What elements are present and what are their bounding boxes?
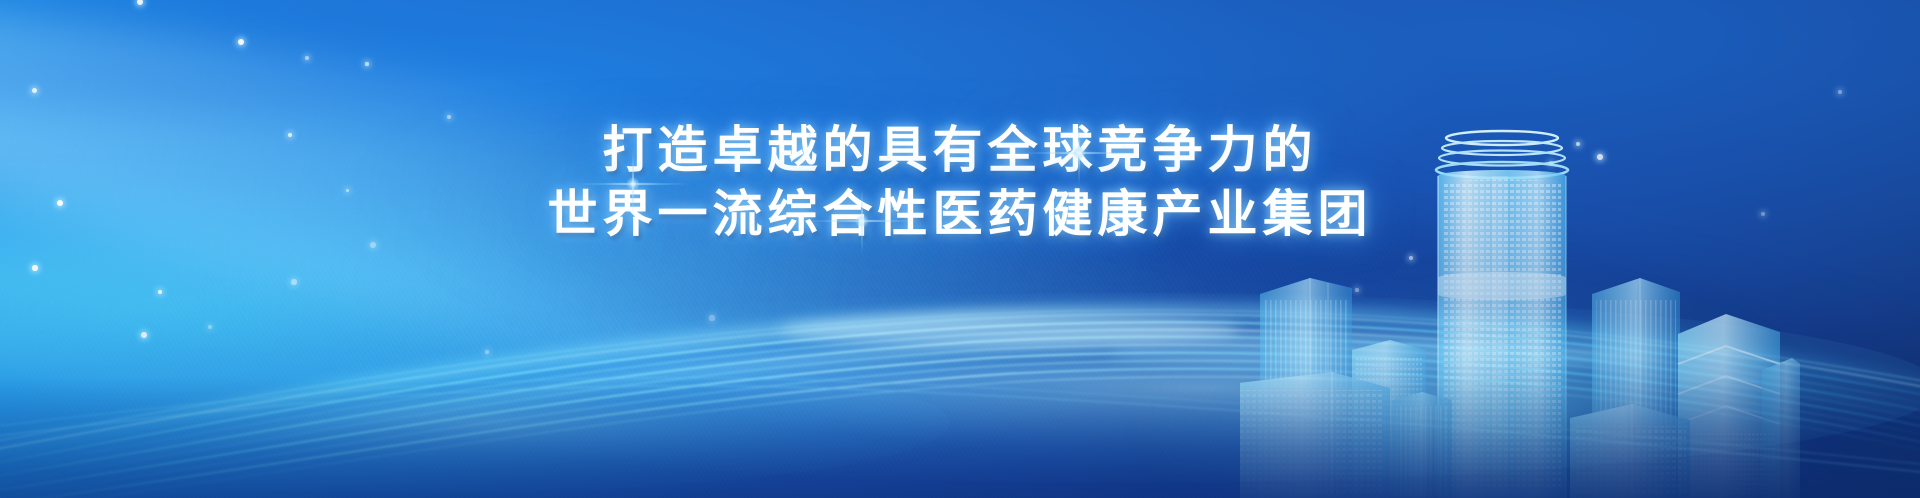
bokeh-dot bbox=[485, 350, 489, 354]
bokeh-dot bbox=[288, 133, 292, 137]
building-far-right bbox=[1762, 358, 1800, 498]
building-central-tower bbox=[1436, 131, 1568, 498]
building-ribbed-small bbox=[1392, 392, 1452, 498]
building-front-right bbox=[1570, 404, 1690, 498]
bokeh-dot bbox=[57, 200, 63, 206]
bokeh-dot bbox=[1838, 90, 1842, 94]
bokeh-dot bbox=[291, 279, 296, 284]
bokeh-dot bbox=[370, 242, 377, 249]
building-block-left bbox=[1240, 372, 1390, 498]
bokeh-dot bbox=[346, 189, 349, 192]
bokeh-dot bbox=[365, 62, 368, 65]
bokeh-dot bbox=[32, 88, 37, 93]
bokeh-dot bbox=[238, 39, 244, 45]
bokeh-dot bbox=[709, 315, 714, 320]
bokeh-dot bbox=[141, 332, 147, 338]
bokeh-dot bbox=[32, 265, 37, 270]
bokeh-dot bbox=[305, 56, 309, 60]
city-skyline bbox=[1240, 118, 1800, 498]
bokeh-dot bbox=[208, 325, 212, 329]
bokeh-dot bbox=[137, 0, 143, 5]
bokeh-dot bbox=[158, 290, 163, 295]
bokeh-dot bbox=[447, 115, 452, 120]
promotional-banner: 打造卓越的具有全球竞争力的 世界一流综合性医药健康产业集团 bbox=[0, 0, 1920, 498]
